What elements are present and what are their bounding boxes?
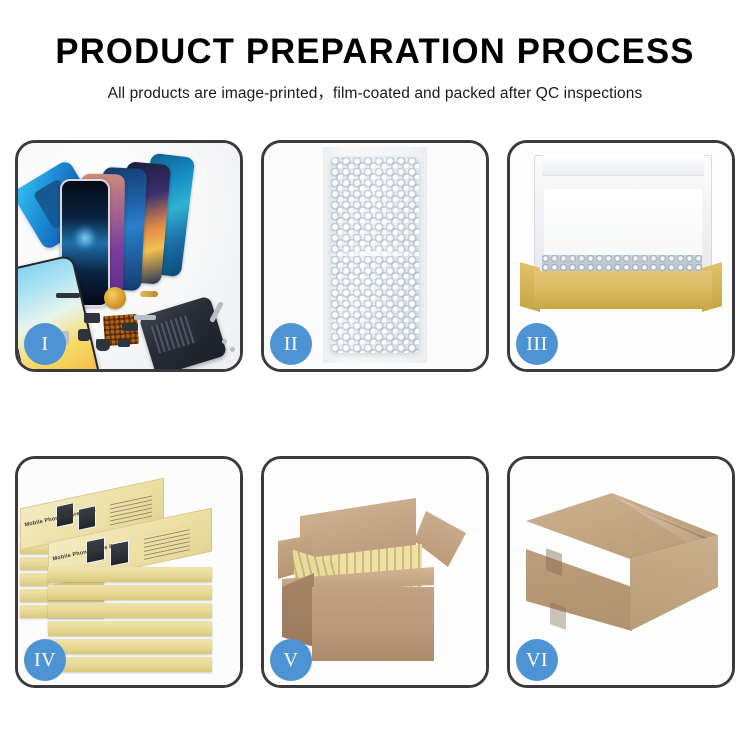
retail-box-stack-right-3 bbox=[48, 603, 212, 618]
small-part-g bbox=[118, 339, 130, 347]
small-part-h bbox=[122, 323, 138, 331]
copper-coil-part bbox=[104, 287, 126, 309]
screw-part-a bbox=[222, 339, 227, 344]
step-badge-3: III bbox=[516, 323, 558, 365]
page-title: PRODUCT PREPARATION PROCESS bbox=[4, 34, 747, 69]
small-part-f bbox=[96, 339, 110, 351]
page-subtitle: All products are image-printed，film-coat… bbox=[0, 86, 750, 102]
step-badge-6: VI bbox=[516, 639, 558, 681]
retail-box-stack-right-6 bbox=[48, 657, 212, 672]
process-step-grid: I II III bbox=[15, 140, 735, 688]
process-step-panel-5[interactable]: V bbox=[261, 456, 489, 688]
process-step-panel-4[interactable]: Mobile Phone Spare Parts Mobile Phone Sp… bbox=[15, 456, 243, 688]
retail-box-stack-right-2 bbox=[48, 585, 212, 600]
retail-box-stack-right-5 bbox=[48, 639, 212, 654]
small-part-c bbox=[134, 315, 156, 320]
carton-front-face bbox=[312, 587, 434, 661]
retail-box-stack-right-1 bbox=[48, 567, 212, 582]
step-badge-5: V bbox=[270, 639, 312, 681]
foam-insert bbox=[544, 189, 702, 257]
small-part-e bbox=[78, 329, 90, 341]
small-part-d bbox=[84, 313, 100, 323]
mailer-box-body bbox=[534, 271, 712, 309]
process-step-panel-6[interactable]: VI bbox=[507, 456, 735, 688]
process-step-panel-3[interactable]: III bbox=[507, 140, 735, 372]
screw-part-b bbox=[230, 347, 235, 352]
step-badge-4: IV bbox=[24, 639, 66, 681]
process-step-panel-1[interactable]: I bbox=[15, 140, 243, 372]
retail-box-stack-right-4 bbox=[48, 621, 212, 636]
small-part-a bbox=[56, 293, 80, 298]
phone-notch-icon bbox=[76, 184, 94, 188]
small-part-b bbox=[140, 291, 158, 297]
step-badge-1: I bbox=[24, 323, 66, 365]
page-header: PRODUCT PREPARATION PROCESS All products… bbox=[0, 0, 750, 102]
step-badge-2: II bbox=[270, 323, 312, 365]
bubble-wrap-seam bbox=[331, 251, 419, 256]
process-step-panel-2[interactable]: II bbox=[261, 140, 489, 372]
